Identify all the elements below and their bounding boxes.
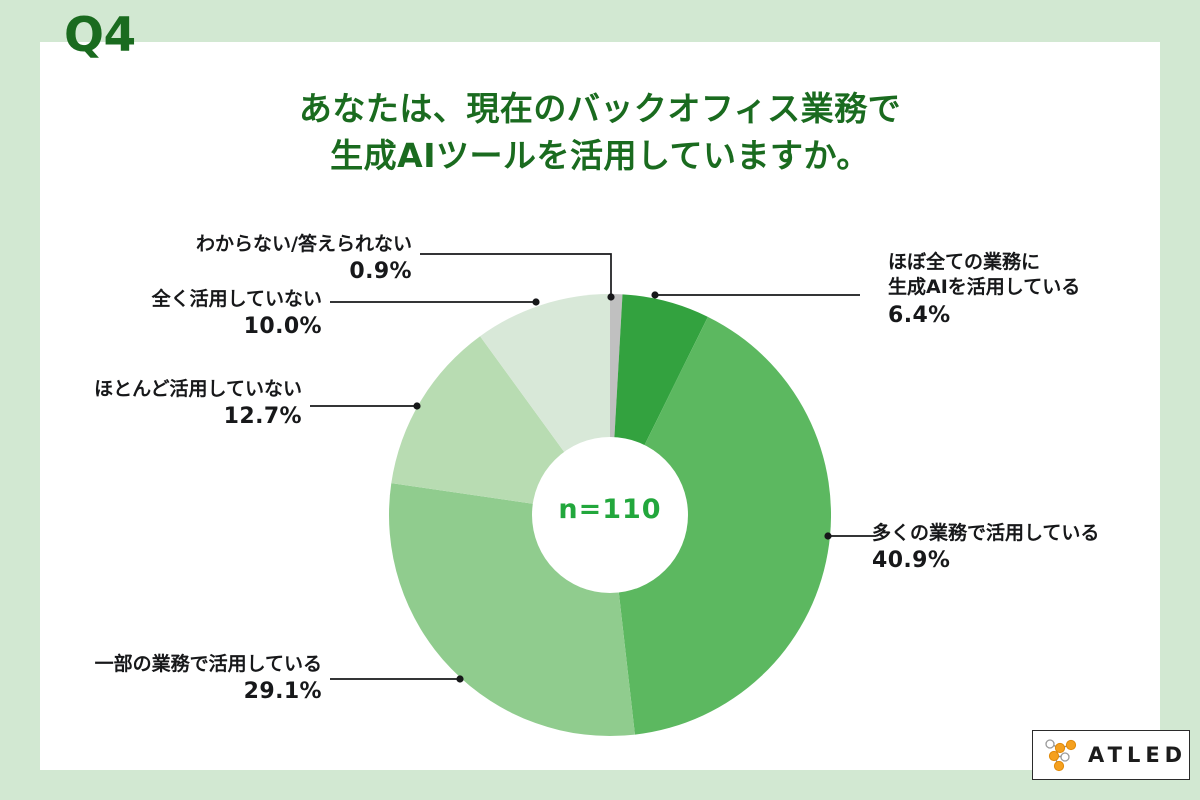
callout-some-label: 一部の業務で活用している: [0, 652, 322, 677]
callout-barely: ほとんど活用していない 12.7%: [0, 377, 310, 432]
atled-logo-mark-icon: [1038, 735, 1086, 775]
leader-dot-barely: [413, 402, 420, 409]
page-title-line-2: 生成AIツールを活用していますか。: [150, 133, 1050, 180]
page-title-line-1: あなたは、現在のバックオフィス業務で: [150, 86, 1050, 133]
callout-almost-all: ほぼ全ての業務に 生成AIを活用している 6.4%: [888, 250, 1080, 330]
sample-size-label: n=110: [510, 494, 710, 525]
leader-dot-almost-all: [651, 291, 658, 298]
leader-dot-some: [456, 675, 463, 682]
atled-logo: ATLED: [1032, 730, 1190, 780]
callout-almost-all-value: 6.4%: [888, 301, 1080, 330]
leader-dot-unknown: [607, 293, 614, 300]
leader-line-unknown: [420, 254, 611, 297]
callout-many-label: 多くの業務で活用している: [872, 521, 1099, 546]
callout-none-label: 全く活用していない: [0, 287, 322, 312]
callout-barely-value: 12.7%: [0, 402, 302, 431]
page-title: あなたは、現在のバックオフィス業務で 生成AIツールを活用していますか。: [150, 86, 1050, 180]
callout-barely-label: ほとんど活用していない: [0, 377, 302, 402]
callout-almost-all-label-2: 生成AIを活用している: [888, 275, 1080, 300]
atled-logo-wordmark: ATLED: [1088, 743, 1187, 767]
callout-none-value: 10.0%: [0, 312, 322, 341]
callout-some-value: 29.1%: [0, 677, 322, 706]
leader-dot-none: [532, 298, 539, 305]
callout-unknown-label: わからない/答えられない: [0, 232, 412, 257]
callout-some: 一部の業務で活用している 29.1%: [0, 652, 330, 707]
callout-unknown: わからない/答えられない 0.9%: [0, 232, 420, 287]
callout-many-value: 40.9%: [872, 546, 1099, 575]
question-number-badge: Q4: [64, 12, 136, 59]
callout-none: 全く活用していない 10.0%: [0, 287, 330, 342]
slide-root: Q4 あなたは、現在のバックオフィス業務で 生成AIツールを活用していますか。: [0, 0, 1200, 800]
leader-dot-many: [824, 532, 831, 539]
callout-almost-all-label-1: ほぼ全ての業務に: [888, 250, 1080, 275]
callout-unknown-value: 0.9%: [0, 257, 412, 286]
callout-many: 多くの業務で活用している 40.9%: [872, 521, 1099, 576]
